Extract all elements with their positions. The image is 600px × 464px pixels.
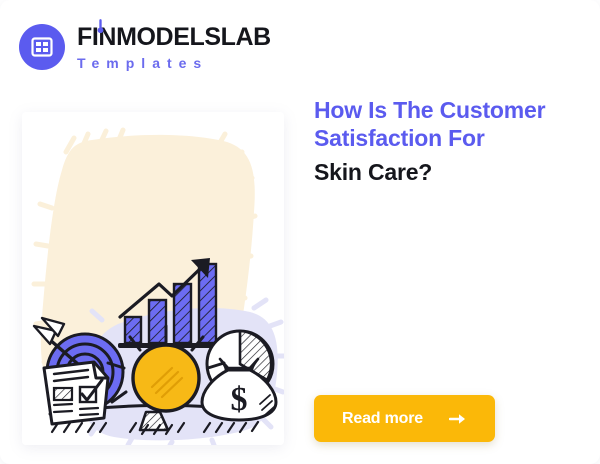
arrow-right-icon [449, 412, 467, 426]
page-title: How Is The Customer Satisfaction For Ski… [314, 96, 576, 186]
grid-squares-icon [30, 35, 54, 59]
brand-logo[interactable]: FINMODELSLAB Templates [19, 24, 271, 70]
document-checklist [44, 362, 108, 424]
headline-accent: How Is The Customer Satisfaction For [314, 96, 576, 152]
location-pin-icon [96, 19, 105, 37]
read-more-label: Read more [342, 410, 423, 428]
brand-mark-circle [19, 24, 65, 70]
brand-wordmark: FINMODELSLAB Templates [77, 25, 271, 70]
read-more-button[interactable]: Read more [314, 395, 495, 442]
business-analytics-illustration: $ [22, 112, 284, 445]
illustration-panel: $ [22, 112, 284, 445]
svg-text:$: $ [231, 381, 248, 418]
brand-name: FINMODELSLAB [77, 25, 271, 50]
brand-subtitle: Templates [77, 56, 271, 70]
promo-card: FINMODELSLAB Templates [0, 0, 600, 464]
headline-subject: Skin Care? [314, 158, 576, 186]
